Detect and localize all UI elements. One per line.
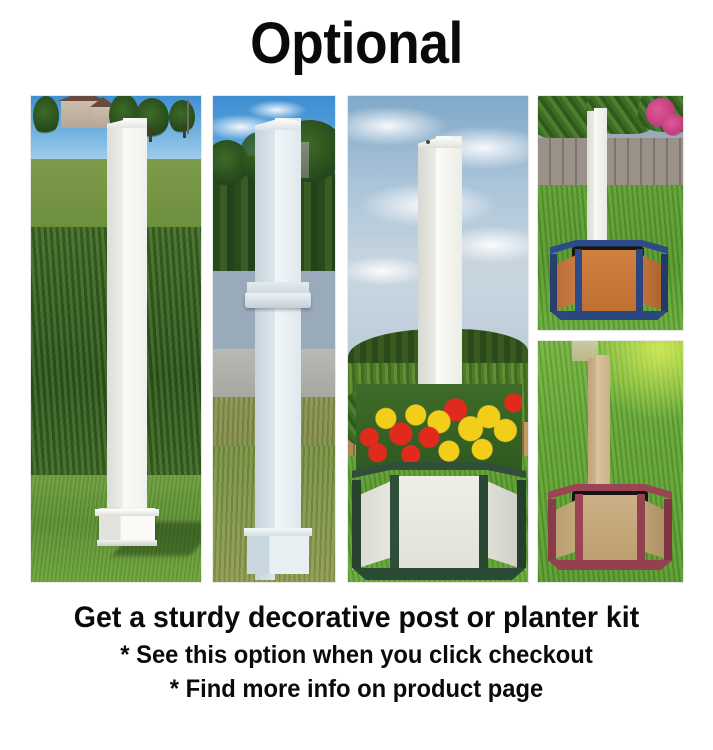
post-graphic bbox=[255, 118, 301, 580]
caption-block: Get a sturdy decorative post or planter … bbox=[0, 598, 713, 706]
planter-box bbox=[548, 484, 672, 570]
planter-box bbox=[352, 462, 526, 580]
gallery-image-tan-post-with-cranberry-planter[interactable] bbox=[537, 340, 684, 583]
gallery-image-white-post-with-collar[interactable] bbox=[212, 95, 336, 583]
gallery-image-white-post-in-field[interactable] bbox=[30, 95, 202, 583]
post-collar-ring bbox=[245, 292, 311, 308]
caption-line-2: * See this option when you click checkou… bbox=[18, 638, 695, 672]
gallery-image-post-with-blue-cedar-planter[interactable] bbox=[537, 95, 684, 331]
post-graphic bbox=[107, 118, 147, 526]
planter-box bbox=[550, 240, 668, 320]
flower-bed bbox=[356, 384, 522, 470]
caption-headline: Get a sturdy decorative post or planter … bbox=[18, 598, 695, 638]
gallery-image-post-with-flower-planter[interactable] bbox=[347, 95, 529, 583]
stone-wall bbox=[538, 138, 683, 189]
caption-line-3: * Find more info on product page bbox=[18, 672, 695, 706]
